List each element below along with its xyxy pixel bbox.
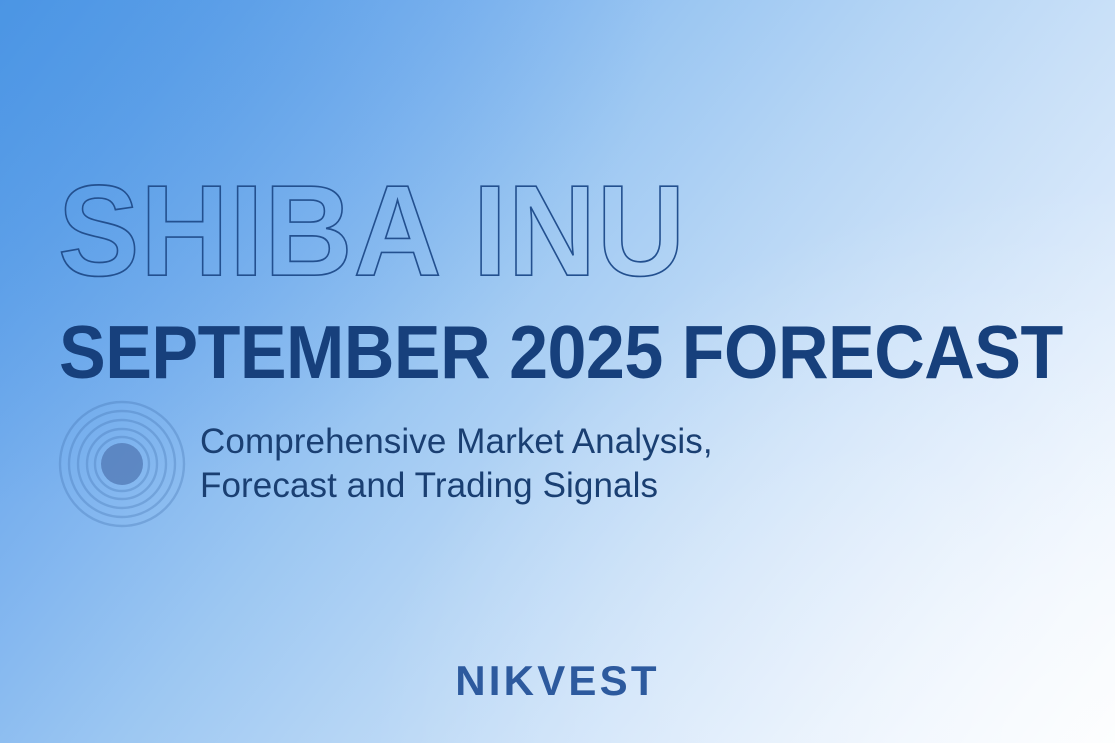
- ghost-asset-title: SHIBA INU: [58, 166, 686, 295]
- concentric-ripple-icon: [58, 400, 186, 528]
- ripple-logo: [58, 400, 186, 528]
- cover-canvas: SHIBA INU SEPTEMBER 2025 FORECAST Compre…: [0, 0, 1115, 743]
- page-title: SEPTEMBER 2025 FORECAST: [59, 315, 1063, 390]
- subtitle-row: Comprehensive Market Analysis, Forecast …: [58, 400, 713, 528]
- page-subtitle: Comprehensive Market Analysis, Forecast …: [200, 420, 713, 509]
- brand-name: NIKVEST: [0, 657, 1115, 705]
